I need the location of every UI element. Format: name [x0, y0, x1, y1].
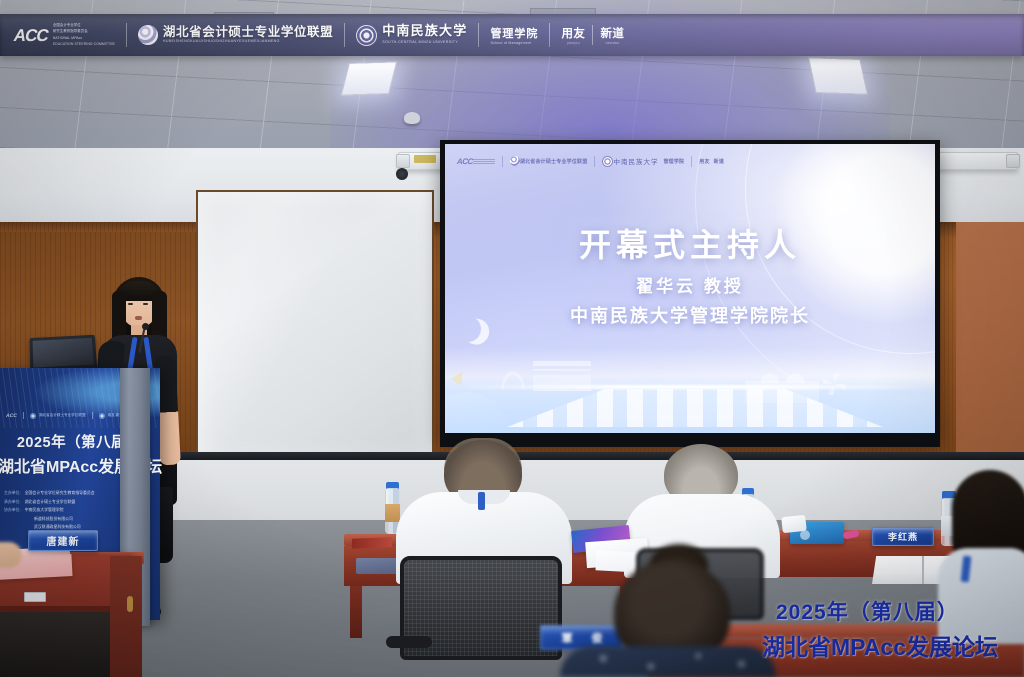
school-name-en: School of Management — [490, 41, 538, 45]
chair-armrest — [386, 636, 432, 648]
slide-towers-silhouette — [761, 363, 805, 383]
slide-university-seal-icon — [602, 156, 613, 167]
sponsor-1-cn: 用友 — [561, 25, 585, 41]
ceiling-light-fixture — [341, 61, 398, 96]
banner-logo-university: 中南民族大学 SOUTH-CENTRAL MINZU UNIVERSITY — [356, 25, 467, 46]
desk-mat — [356, 558, 400, 574]
roller-end-cap — [1006, 154, 1020, 168]
smoke-detector-icon — [404, 112, 420, 124]
alliance-name-pinyin: HUBEISHENGKUAIJISHUOSHIZHUANYEXUEWEILIAN… — [163, 39, 333, 44]
bottle-label — [385, 504, 400, 522]
slide-title: 开幕式主持人 — [445, 220, 935, 266]
whiteboard — [196, 190, 434, 462]
podium-detail-key: 协办单位: — [4, 507, 21, 513]
roller-end-cap — [396, 154, 410, 168]
speaker-mouth — [135, 316, 142, 320]
audience-woman-top-pattern — [560, 646, 776, 677]
microphone-icon — [142, 323, 149, 330]
desk-side-panel — [110, 556, 142, 677]
school-name-cn: 管理学院 — [490, 25, 538, 41]
banner-divider — [126, 23, 127, 47]
banner-logo-school: 管理学院 School of Management — [490, 25, 538, 45]
laptop-screen — [33, 338, 94, 368]
slide-acc-mark: ACC — [456, 157, 474, 166]
sponsor-2-en: newdao — [606, 41, 620, 45]
slide-presenter-role: 中南民族大学管理学院院长 — [445, 302, 935, 328]
banner-divider — [478, 23, 479, 47]
desk-handle — [127, 596, 133, 612]
banner-divider — [549, 23, 550, 47]
audience-lanyard — [478, 492, 485, 510]
slide-university-name: 中南民族大学 — [613, 156, 658, 166]
podium-detail-value: 中南民族大学管理学院 — [25, 507, 64, 513]
podium-alliance-name: 湖北省会计硕士专业学位联盟 — [39, 413, 86, 418]
banner-logo-alliance: 湖北省会计硕士专业学位联盟 HUBEISHENGKUAIJISHUOSHIZHU… — [138, 25, 333, 45]
nameplate-li-hongyan: 李红燕 — [872, 527, 934, 546]
projector-lens-icon — [396, 168, 408, 180]
audience-woman-right-body — [938, 548, 1024, 644]
slide-presenter-name: 翟华云 教授 — [445, 272, 935, 297]
slide-divider — [594, 156, 595, 167]
university-seal-icon — [356, 25, 377, 46]
university-name-en: SOUTH-CENTRAL MINZU UNIVERSITY — [382, 40, 467, 45]
slide-alliance-swirl-icon — [510, 156, 520, 166]
podium-university-icon — [99, 413, 105, 419]
slide-bottom-graphic — [445, 347, 935, 433]
slide-sponsor-1: 用友 — [699, 158, 709, 165]
red-folder — [352, 537, 392, 548]
whiteboard-glare — [198, 192, 432, 460]
alliance-swirl-icon — [138, 25, 158, 45]
slide-arch-silhouette — [500, 369, 526, 389]
podium-detail-key: 主办单位: — [4, 490, 21, 496]
book-spine — [922, 556, 924, 584]
slide-divider — [691, 156, 692, 167]
university-name-cn: 中南民族大学 — [382, 25, 467, 39]
podium-divider — [23, 412, 24, 419]
podium-detail-value: 湖北省会计硕士专业学位联盟 — [25, 499, 76, 505]
wood-wall-right-section — [956, 222, 1024, 462]
slide-sponsor-2: 新道 — [714, 158, 724, 165]
conference-photo-scene: ACC 全国会计专业学位 研究生教育指导委员会 NATIONAL MPAcc E… — [0, 0, 1024, 677]
banner-logo-acc: ACC 全国会计专业学位 研究生教育指导委员会 NATIONAL MPAcc E… — [14, 23, 115, 46]
projection-screen-frame: ACC 湖北省会计硕士专业学位联盟 中南民族大学 管理学院 用友 新道 开幕式主… — [440, 140, 940, 440]
alliance-name-cn: 湖北省会计硕士专业学位联盟 — [163, 26, 333, 40]
sponsor-1-en: yonyou — [567, 41, 580, 45]
laptop — [30, 335, 98, 372]
projection-screen: ACC 湖北省会计硕士专业学位联盟 中南民族大学 管理学院 用友 新道 开幕式主… — [445, 144, 935, 433]
slide-divider — [502, 156, 503, 167]
slide-school-name: 管理学院 — [663, 158, 684, 165]
acc-line-4: EDUCATION STEERING COMMITTEE — [53, 42, 115, 47]
roller-label — [414, 155, 436, 163]
tissue-box-logo — [800, 530, 810, 540]
slide-star-silhouette — [823, 373, 845, 395]
slide-acc-lines-icon — [473, 159, 495, 164]
banner-divider — [344, 23, 345, 47]
slide-header-logos: ACC 湖北省会计硕士专业学位联盟 中南民族大学 管理学院 用友 新道 — [445, 150, 935, 172]
acc-mark: ACC — [12, 27, 49, 44]
banner-divider — [592, 25, 593, 45]
table-leg — [350, 586, 362, 638]
podium-detail-value: 全国会计专业学位研究生教育指导委员会 — [25, 490, 95, 496]
podium-alliance-icon — [30, 413, 36, 419]
podium-header-logos: ACC 湖北省会计硕士专业学位联盟 用友 新道 — [6, 412, 123, 419]
desk-cavity — [0, 612, 110, 677]
podium-detail-key: 承办单位: — [4, 499, 21, 505]
acc-subtitle-lines: 全国会计专业学位 研究生教育指导委员会 NATIONAL MPAcc EDUCA… — [53, 23, 115, 46]
ceiling-light-fixture — [808, 57, 868, 95]
podium-acc-mark: ACC — [5, 413, 17, 419]
acc-line-1: 全国会计专业学位 — [53, 23, 115, 28]
podium-divider — [92, 412, 93, 419]
banner-sponsor-newdao: 新道 newdao — [600, 25, 624, 45]
speaker-eye — [143, 303, 148, 305]
desk-label-plate — [24, 592, 46, 602]
acc-line-3: NATIONAL MPAcc — [53, 36, 115, 41]
tissue-sheet — [781, 515, 807, 533]
slide-alliance-name: 湖北省会计硕士专业学位联盟 — [520, 158, 588, 165]
acc-line-2: 研究生教育指导委员会 — [53, 29, 115, 34]
podium-detail-value: 新道科技股份有限公司 — [34, 516, 73, 522]
sponsor-2-cn: 新道 — [600, 25, 624, 41]
speaker-eye — [128, 303, 133, 305]
wall-banner: ACC 全国会计专业学位 研究生教育指导委员会 NATIONAL MPAcc E… — [0, 14, 1024, 56]
slide-pagoda-silhouette — [533, 361, 591, 391]
nameplate-tang-jianxin: 唐建新 — [28, 530, 98, 551]
banner-sponsor-yonyou: 用友 yonyou — [561, 25, 585, 45]
